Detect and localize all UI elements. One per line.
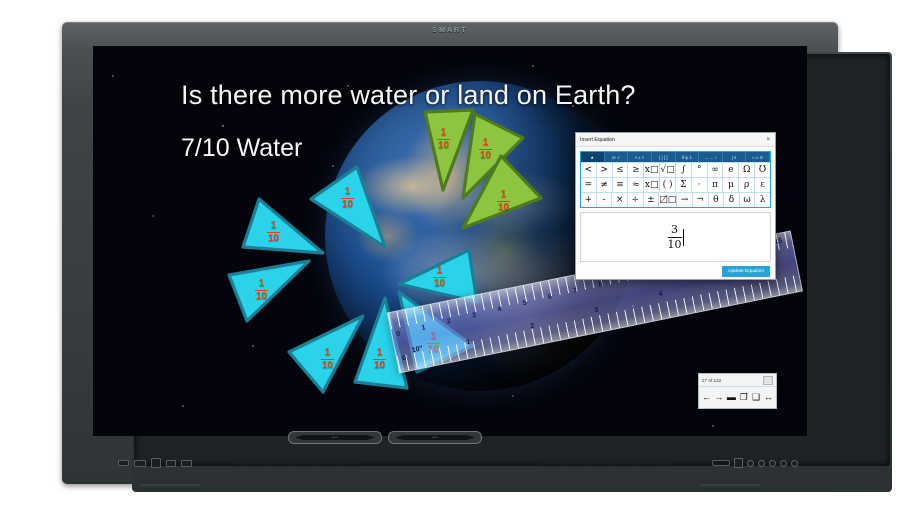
control-button-row[interactable] — [712, 458, 798, 468]
fraction-numerator: 1 — [433, 266, 446, 276]
symbol-identical[interactable]: ≡ — [613, 178, 629, 192]
update-equation-button[interactable]: Update Equation — [722, 266, 770, 277]
symbol-parentheses[interactable]: ( ) — [660, 178, 676, 192]
dialog-title-bar[interactable]: Insert Equation × — [576, 133, 775, 147]
symbol-upsilon[interactable]: Ʊ — [755, 163, 770, 177]
symbol-negation[interactable]: ¬ — [693, 193, 709, 207]
symbol-delta[interactable]: δ — [724, 193, 740, 207]
pen-left-label: pen — [289, 435, 381, 439]
menu-button[interactable] — [747, 460, 754, 467]
fraction-numerator: 1 — [267, 221, 280, 231]
symbol-mu[interactable]: μ — [723, 178, 739, 192]
ruler-inch-label-2: 2 — [530, 323, 535, 331]
symbol-palette[interactable]: ★ aⁿ √ < ≠ ≡ ( ) [ ] θ ψ λ → ← ↕ ∫ ∂ ≈ ∞… — [580, 151, 771, 208]
fraction-numerator: 1 — [497, 190, 510, 200]
help-button[interactable] — [791, 460, 798, 467]
smart-brand-logo: SMART — [62, 27, 838, 34]
symbol-omega-lower[interactable]: ω — [740, 193, 756, 207]
tab-relations[interactable]: < ≠ ≡ — [628, 152, 652, 162]
ruler-cm-label-1: 1 — [421, 324, 426, 332]
symbol-epsilon[interactable]: ε — [755, 178, 770, 192]
symbol-square-root[interactable]: √□ — [660, 163, 676, 177]
dialog-footer: Update Equation — [576, 266, 775, 277]
symbol-category-tabs[interactable]: ★ aⁿ √ < ≠ ≡ ( ) [ ] θ ψ λ → ← ↕ ∫ ∂ ≈ ∞… — [581, 152, 770, 162]
symbol-greater-equal[interactable]: ≥ — [628, 163, 644, 177]
symbol-arrow-right[interactable]: → — [677, 193, 693, 207]
symbol-greater-than[interactable]: > — [597, 163, 613, 177]
fraction-denominator: 10 — [341, 200, 354, 210]
ruler-inch-label-3: 3 — [594, 306, 599, 314]
ruler-cm-label-2: 2 — [446, 318, 451, 326]
pen-right-label: pen — [389, 435, 481, 439]
screen-shade-icon[interactable]: ❑ — [750, 393, 761, 402]
power-button[interactable] — [712, 460, 730, 466]
symbol-less-than[interactable]: < — [581, 163, 597, 177]
symbol-row-2[interactable]: = ≠ ≡ ≈ x□ ( ) Σ · π μ ρ ε — [581, 177, 770, 192]
symbol-omega-upper[interactable]: Ω — [739, 163, 755, 177]
audio-port — [166, 460, 176, 467]
ruler-highlight-mark: 1 — [433, 340, 439, 350]
dialog-title: Insert Equation — [580, 137, 765, 143]
hdmi-port — [134, 460, 146, 467]
equation-numerator: 3 — [668, 224, 682, 236]
blue-wedge-5-fraction: 1 10 — [373, 348, 386, 371]
equation-denominator: 10 — [668, 239, 682, 251]
symbol-pi[interactable]: π — [708, 178, 724, 192]
slide-subtitle: 7/10 Water — [181, 134, 302, 163]
symbol-fraction[interactable]: □̸□ — [659, 193, 677, 207]
symbol-theta[interactable]: θ — [709, 193, 725, 207]
speaker-grille-left — [232, 459, 360, 467]
navigation-icon-row[interactable]: ← → ▬ ❐ ❑ ↔ — [699, 387, 776, 407]
ruler-inch-label-1: 1 — [466, 339, 471, 347]
fraction-numerator: 1 — [255, 279, 268, 289]
ruler-cm-label-4: 4 — [497, 306, 502, 314]
screenshot-root: SMART Is there more water or land on Ear… — [0, 0, 900, 507]
page-indicator-row: 27 of 122 — [699, 374, 776, 387]
symbol-infinity[interactable]: ∞ — [708, 163, 724, 177]
green-wedge-3[interactable]: 1 10 — [455, 142, 551, 232]
close-icon[interactable]: × — [765, 137, 771, 143]
symbol-plus-minus[interactable]: ± — [644, 193, 660, 207]
symbol-degree[interactable]: ° — [692, 163, 708, 177]
symbol-sigma[interactable]: Σ — [676, 178, 692, 192]
stand-leg-left — [140, 484, 200, 490]
page-sorter-icon[interactable]: ▬ — [726, 393, 737, 402]
vga-port — [151, 458, 161, 468]
symbol-less-equal[interactable]: ≤ — [613, 163, 629, 177]
stand-leg-right — [700, 484, 760, 490]
fraction-denominator: 10 — [321, 361, 334, 371]
fraction-numerator: 1 — [373, 348, 386, 358]
text-cursor — [683, 229, 684, 246]
symbol-subscript[interactable]: x□ — [644, 178, 660, 192]
power-port — [181, 460, 192, 467]
blue-wedge-3-fraction: 1 10 — [255, 279, 268, 302]
symbol-lambda[interactable]: λ — [755, 193, 770, 207]
more-options-icon[interactable]: ↔ — [763, 393, 774, 402]
equation-input-canvas[interactable]: 3 10 — [580, 212, 771, 262]
symbol-row-3[interactable]: + - × ÷ ± □̸□ → ¬ θ δ ω λ — [581, 192, 770, 207]
symbol-rho[interactable]: ρ — [739, 178, 755, 192]
fraction-numerator: 1 — [321, 348, 334, 358]
symbol-plus[interactable]: + — [581, 193, 597, 207]
symbol-superscript[interactable]: x□ — [644, 163, 660, 177]
green-wedge-3-fraction: 1 10 — [497, 190, 510, 213]
tab-exponents[interactable]: aⁿ √ — [605, 152, 629, 162]
symbol-multiply[interactable]: × — [612, 193, 628, 207]
tab-misc[interactable]: ≈ ∞ ℝ — [746, 152, 770, 162]
input-select-button[interactable] — [734, 458, 743, 468]
usb-port — [118, 460, 129, 466]
add-page-icon[interactable]: ❐ — [738, 393, 749, 402]
volume-up-button[interactable] — [769, 460, 776, 467]
symbol-minus[interactable]: - — [597, 193, 613, 207]
tab-brackets[interactable]: ( ) [ ] — [652, 152, 676, 162]
page-thumbnail-box[interactable] — [763, 376, 773, 385]
tab-calculus[interactable]: ∫ ∂ — [723, 152, 747, 162]
symbol-e[interactable]: e — [723, 163, 739, 177]
tab-favorites[interactable]: ★ — [581, 152, 605, 162]
equation-fraction: 3 10 — [668, 224, 682, 250]
pen-tray[interactable]: pen pen — [288, 428, 488, 448]
symbol-divide[interactable]: ÷ — [628, 193, 644, 207]
blue-wedge-4-fraction: 1 10 — [321, 348, 334, 371]
symbol-not-equal[interactable]: ≠ — [597, 178, 613, 192]
speaker-grille-right — [540, 459, 668, 467]
page-navigation-toolbar[interactable]: 27 of 122 ← → ▬ ❐ ❑ ↔ — [698, 373, 777, 409]
stylus-pen-left[interactable]: pen — [288, 431, 382, 444]
symbol-equals[interactable]: = — [581, 178, 597, 192]
symbol-integral[interactable]: ∫ — [676, 163, 692, 177]
ruler-inch-ticks — [397, 275, 802, 372]
symbol-row-1[interactable]: < > ≤ ≥ x□ √□ ∫ ° ∞ e Ω Ʊ — [581, 162, 770, 177]
whiteboard-screen[interactable]: Is there more water or land on Earth? 7/… — [93, 46, 807, 436]
freeze-button[interactable] — [780, 460, 787, 467]
ruler-inch-label-4: 4 — [658, 290, 663, 298]
fraction-denominator: 10 — [255, 292, 268, 302]
fraction-denominator: 10 — [497, 203, 510, 213]
fraction-denominator: 10 — [267, 234, 280, 244]
io-port-group — [118, 455, 218, 471]
volume-down-button[interactable] — [758, 460, 765, 467]
next-page-icon[interactable]: → — [713, 393, 724, 402]
symbol-approx[interactable]: ≈ — [628, 178, 644, 192]
page-indicator: 27 of 122 — [702, 378, 763, 383]
insert-equation-dialog[interactable]: Insert Equation × ★ aⁿ √ < ≠ ≡ ( ) [ ] θ… — [575, 132, 776, 280]
ruler-cm-label-0: 0 — [396, 330, 401, 338]
ruler-cm-label-3: 3 — [472, 312, 477, 320]
blue-wedge-2-fraction: 1 10 — [341, 187, 354, 210]
symbol-dot-product[interactable]: · — [692, 178, 708, 192]
blue-wedge-2[interactable]: 1 10 — [303, 161, 395, 253]
tab-greek[interactable]: θ ψ λ — [676, 152, 700, 162]
previous-page-icon[interactable]: ← — [701, 393, 712, 402]
blue-wedge-1-fraction: 1 10 — [267, 221, 280, 244]
fraction-denominator: 10 — [373, 361, 386, 371]
stylus-pen-right[interactable]: pen — [388, 431, 482, 444]
tab-arrows[interactable]: → ← ↕ — [699, 152, 723, 162]
fraction-numerator: 1 — [341, 187, 354, 197]
